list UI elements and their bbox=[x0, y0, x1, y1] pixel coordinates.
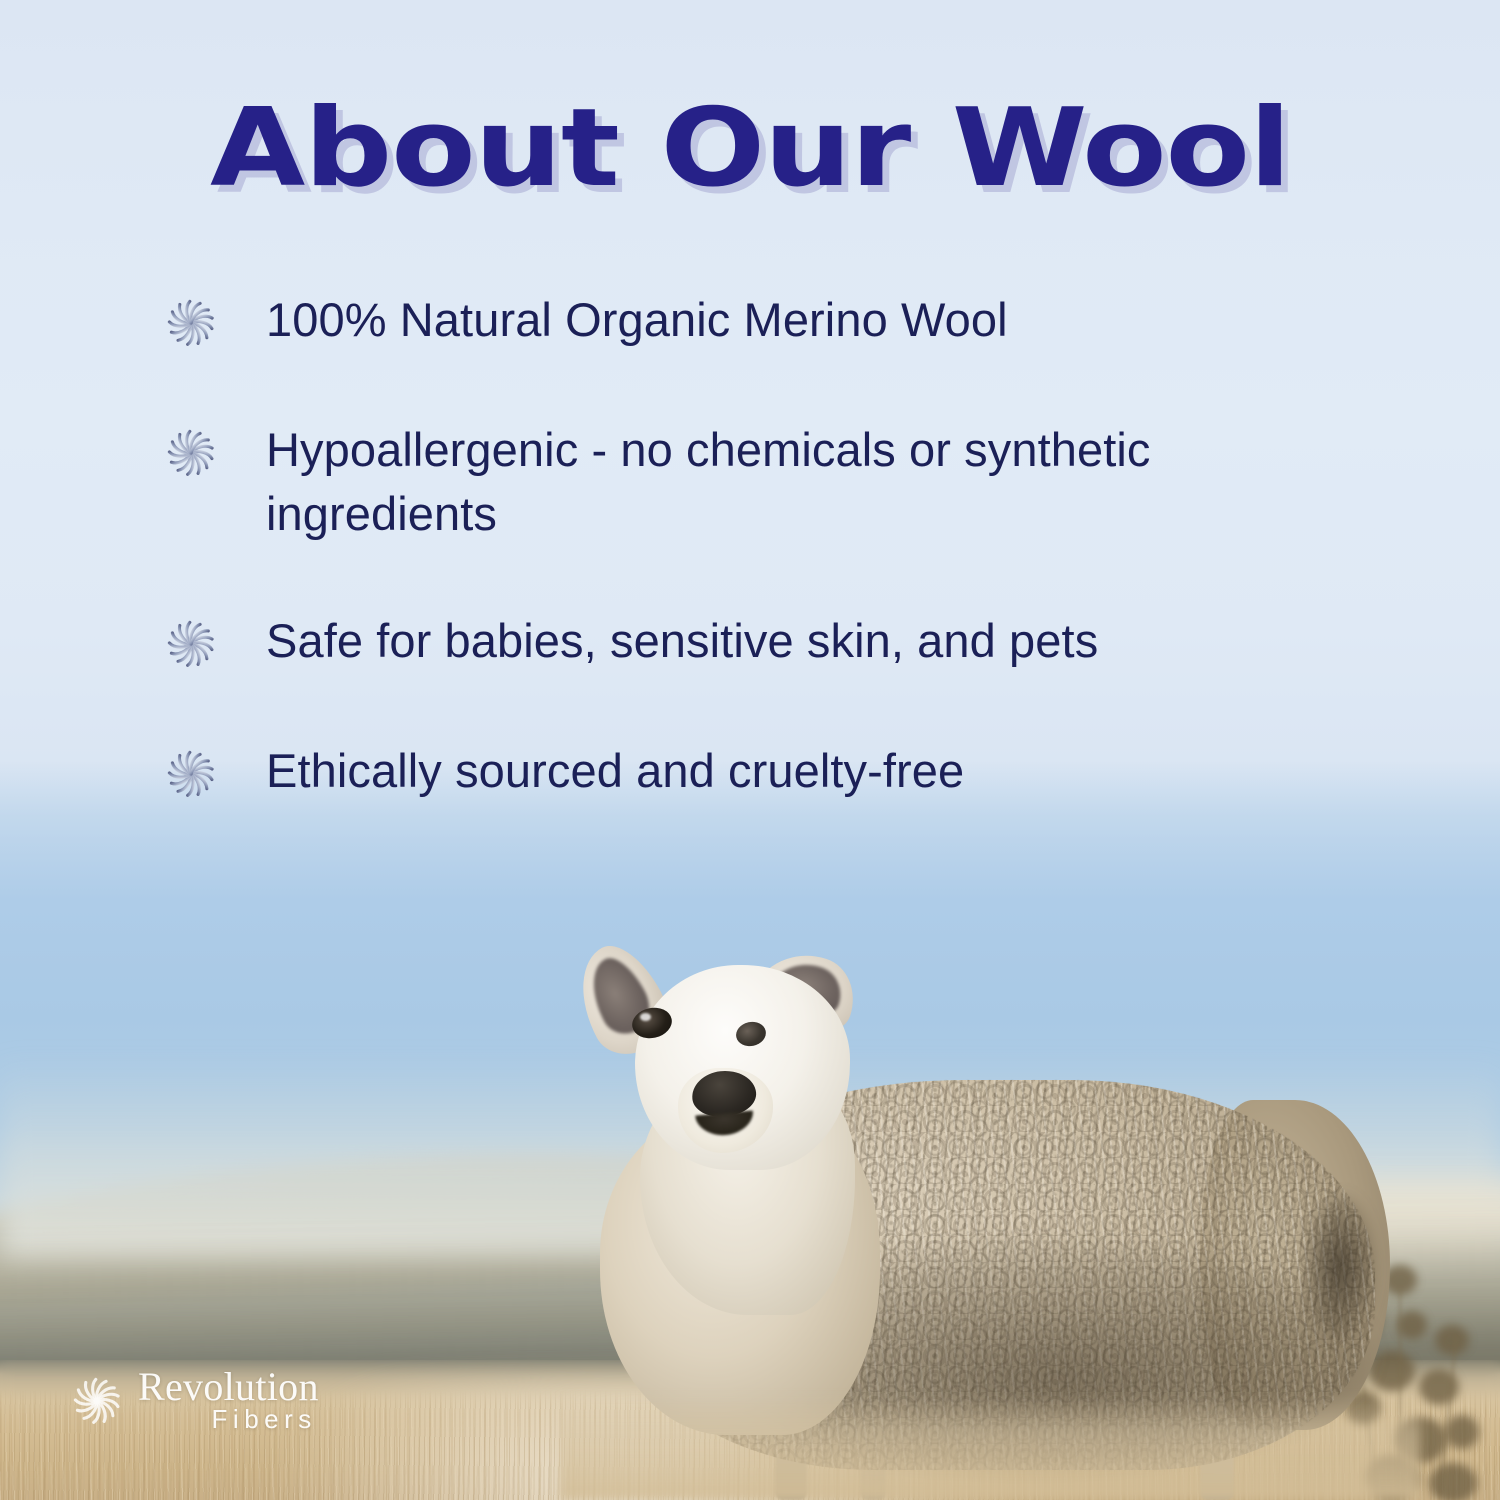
list-item-label: Hypoallergenic - no chemicals or synthet… bbox=[266, 418, 1326, 547]
sheep-eye-highlight bbox=[640, 1013, 651, 1021]
list-item-label: 100% Natural Organic Merino Wool bbox=[266, 288, 1008, 352]
brand-name: Revolution bbox=[138, 1368, 319, 1406]
sheep-rump-shadow bbox=[1305, 1195, 1375, 1340]
wool-swirl-icon bbox=[160, 743, 222, 805]
wool-swirl-icon bbox=[160, 422, 222, 484]
wool-swirl-icon bbox=[160, 292, 222, 354]
feature-list: 100% Natural Organic Merino Wool bbox=[160, 288, 1340, 869]
brand-logo: Revolution Fibers bbox=[66, 1368, 319, 1434]
sheep-photo-subject bbox=[560, 940, 1420, 1500]
list-item: Safe for babies, sensitive skin, and pet… bbox=[160, 609, 1340, 675]
brand-subtitle: Fibers bbox=[212, 1406, 317, 1433]
list-item: Hypoallergenic - no chemicals or synthet… bbox=[160, 418, 1340, 547]
foreground-grass-overlap bbox=[560, 1395, 1420, 1500]
list-item-label: Ethically sourced and cruelty-free bbox=[266, 739, 964, 803]
list-item: Ethically sourced and cruelty-free bbox=[160, 739, 1340, 805]
wool-swirl-icon bbox=[160, 613, 222, 675]
revolution-swirl-icon bbox=[66, 1370, 128, 1432]
list-item: 100% Natural Organic Merino Wool bbox=[160, 288, 1340, 354]
brand-wordmark: Revolution Fibers bbox=[138, 1368, 319, 1434]
promo-graphic: About Our Wool bbox=[0, 0, 1500, 1500]
list-item-label: Safe for babies, sensitive skin, and pet… bbox=[266, 609, 1098, 673]
page-title: About Our Wool bbox=[0, 95, 1500, 203]
